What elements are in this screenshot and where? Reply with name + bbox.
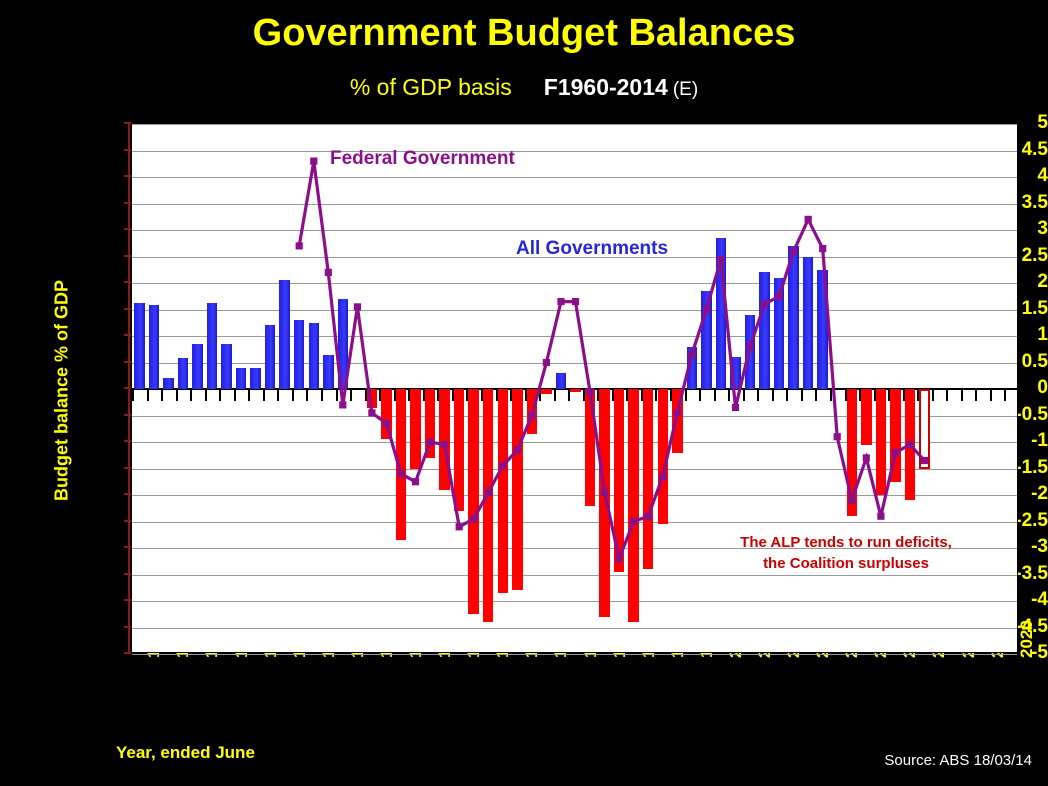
y-tick-mark	[124, 255, 131, 257]
annotation-alp-coalition: The ALP tends to run deficits, the Coali…	[700, 532, 992, 574]
y-tick-mark	[124, 175, 131, 177]
y-tick-mark	[124, 599, 131, 601]
y-tick-mark	[124, 414, 131, 416]
line-marker	[645, 513, 652, 520]
line-marker	[674, 409, 681, 416]
page-title: Government Budget Balances	[0, 12, 1048, 55]
y-tick-mark	[124, 626, 131, 628]
y-tick-mark	[124, 520, 131, 522]
y-tick-mark	[124, 493, 131, 495]
y-tick-mark	[124, 122, 131, 124]
line-marker	[877, 513, 884, 520]
line-marker	[776, 293, 783, 300]
line-marker	[339, 401, 346, 408]
line-marker	[601, 489, 608, 496]
y-tick-mark	[124, 228, 131, 230]
line-marker	[557, 298, 564, 305]
source-note: Source: ABS 18/03/14	[884, 752, 1032, 769]
line-marker	[456, 523, 463, 530]
line-marker	[819, 245, 826, 252]
line-marker	[659, 473, 666, 480]
line-marker	[732, 404, 739, 411]
annotation-line-2: the Coalition surpluses	[700, 553, 992, 574]
line-marker	[921, 457, 928, 464]
line-marker	[354, 303, 361, 310]
subtitle-measure: % of GDP basis	[350, 74, 512, 100]
line-marker	[892, 449, 899, 456]
line-marker	[805, 216, 812, 223]
line-marker	[616, 555, 623, 562]
subtitle-estimate-flag: (E)	[673, 79, 698, 100]
line-marker	[528, 412, 535, 419]
chart-subtitle: % of GDP basisF1960-2014(E)	[0, 74, 1048, 101]
line-marker	[746, 343, 753, 350]
line-marker	[761, 301, 768, 308]
y-tick-mark	[124, 467, 131, 469]
line-marker	[630, 518, 637, 525]
line-marker	[688, 351, 695, 358]
line-marker	[310, 158, 317, 165]
line-marker	[863, 454, 870, 461]
line-marker	[848, 497, 855, 504]
line-marker	[325, 269, 332, 276]
x-tick-label: 2020	[1017, 620, 1037, 658]
series-label-all-governments: All Governments	[516, 238, 668, 260]
line-marker	[499, 462, 506, 469]
y-tick-mark	[124, 202, 131, 204]
y-tick-mark	[124, 573, 131, 575]
x-axis-caption: Year, ended June	[116, 743, 255, 763]
subtitle-period: F1960-2014	[544, 74, 668, 100]
y-axis-title: Budget balance % of GDP	[52, 251, 73, 531]
y-tick-mark	[124, 440, 131, 442]
line-marker	[543, 359, 550, 366]
y-tick-mark	[124, 361, 131, 363]
y-tick-mark	[124, 334, 131, 336]
y-tick-mark	[124, 308, 131, 310]
line-marker	[514, 446, 521, 453]
y-tick-mark	[124, 652, 131, 654]
line-marker	[470, 515, 477, 522]
line-series-federal-government	[132, 124, 1019, 654]
line-marker	[906, 441, 913, 448]
gridline	[132, 654, 1017, 655]
line-marker	[717, 256, 724, 263]
line-marker	[441, 441, 448, 448]
line-marker	[412, 478, 419, 485]
line-marker	[572, 298, 579, 305]
line-marker	[703, 306, 710, 313]
line-marker	[586, 388, 593, 395]
series-label-federal-government: Federal Government	[330, 148, 515, 170]
y-tick-mark	[124, 387, 131, 389]
line-marker	[397, 470, 404, 477]
y-tick-mark	[124, 281, 131, 283]
y-tick-mark	[124, 546, 131, 548]
line-marker	[485, 489, 492, 496]
line-marker	[790, 248, 797, 255]
line-marker	[427, 438, 434, 445]
annotation-line-1: The ALP tends to run deficits,	[700, 532, 992, 553]
line-marker	[368, 409, 375, 416]
line-marker	[383, 420, 390, 427]
line-marker	[834, 433, 841, 440]
y-tick-mark	[124, 149, 131, 151]
line-marker	[296, 242, 303, 249]
